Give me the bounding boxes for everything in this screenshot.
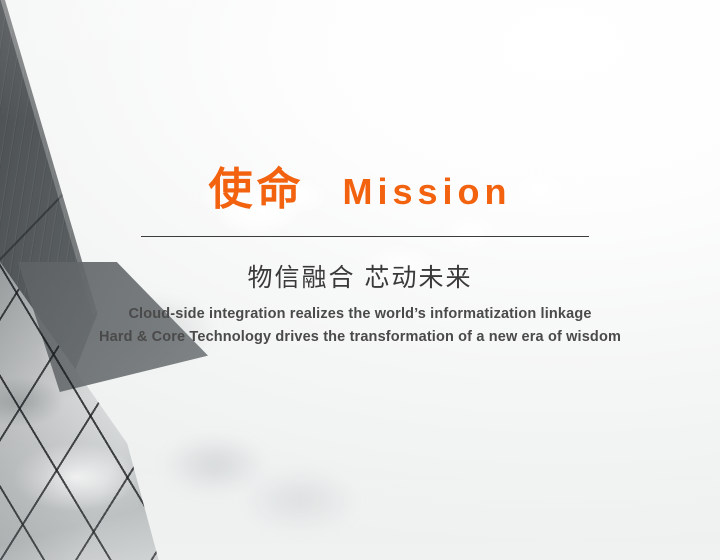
title-row: 使命 Mission bbox=[0, 168, 720, 212]
mission-slide: 使命 Mission 物信融合 芯动未来 Cloud-side integrat… bbox=[0, 0, 720, 560]
body-text-block: Cloud-side integration realizes the worl… bbox=[0, 303, 720, 349]
title-divider-rule bbox=[141, 236, 589, 237]
title-english: Mission bbox=[342, 174, 511, 210]
body-line-2: Hard & Core Technology drives the transf… bbox=[0, 326, 720, 349]
text-overlay: 使命 Mission 物信融合 芯动未来 Cloud-side integrat… bbox=[0, 0, 720, 560]
tagline-chinese: 物信融合 芯动未来 bbox=[0, 258, 720, 294]
body-line-1: Cloud-side integration realizes the worl… bbox=[0, 303, 720, 326]
title-chinese: 使命 bbox=[208, 168, 304, 212]
